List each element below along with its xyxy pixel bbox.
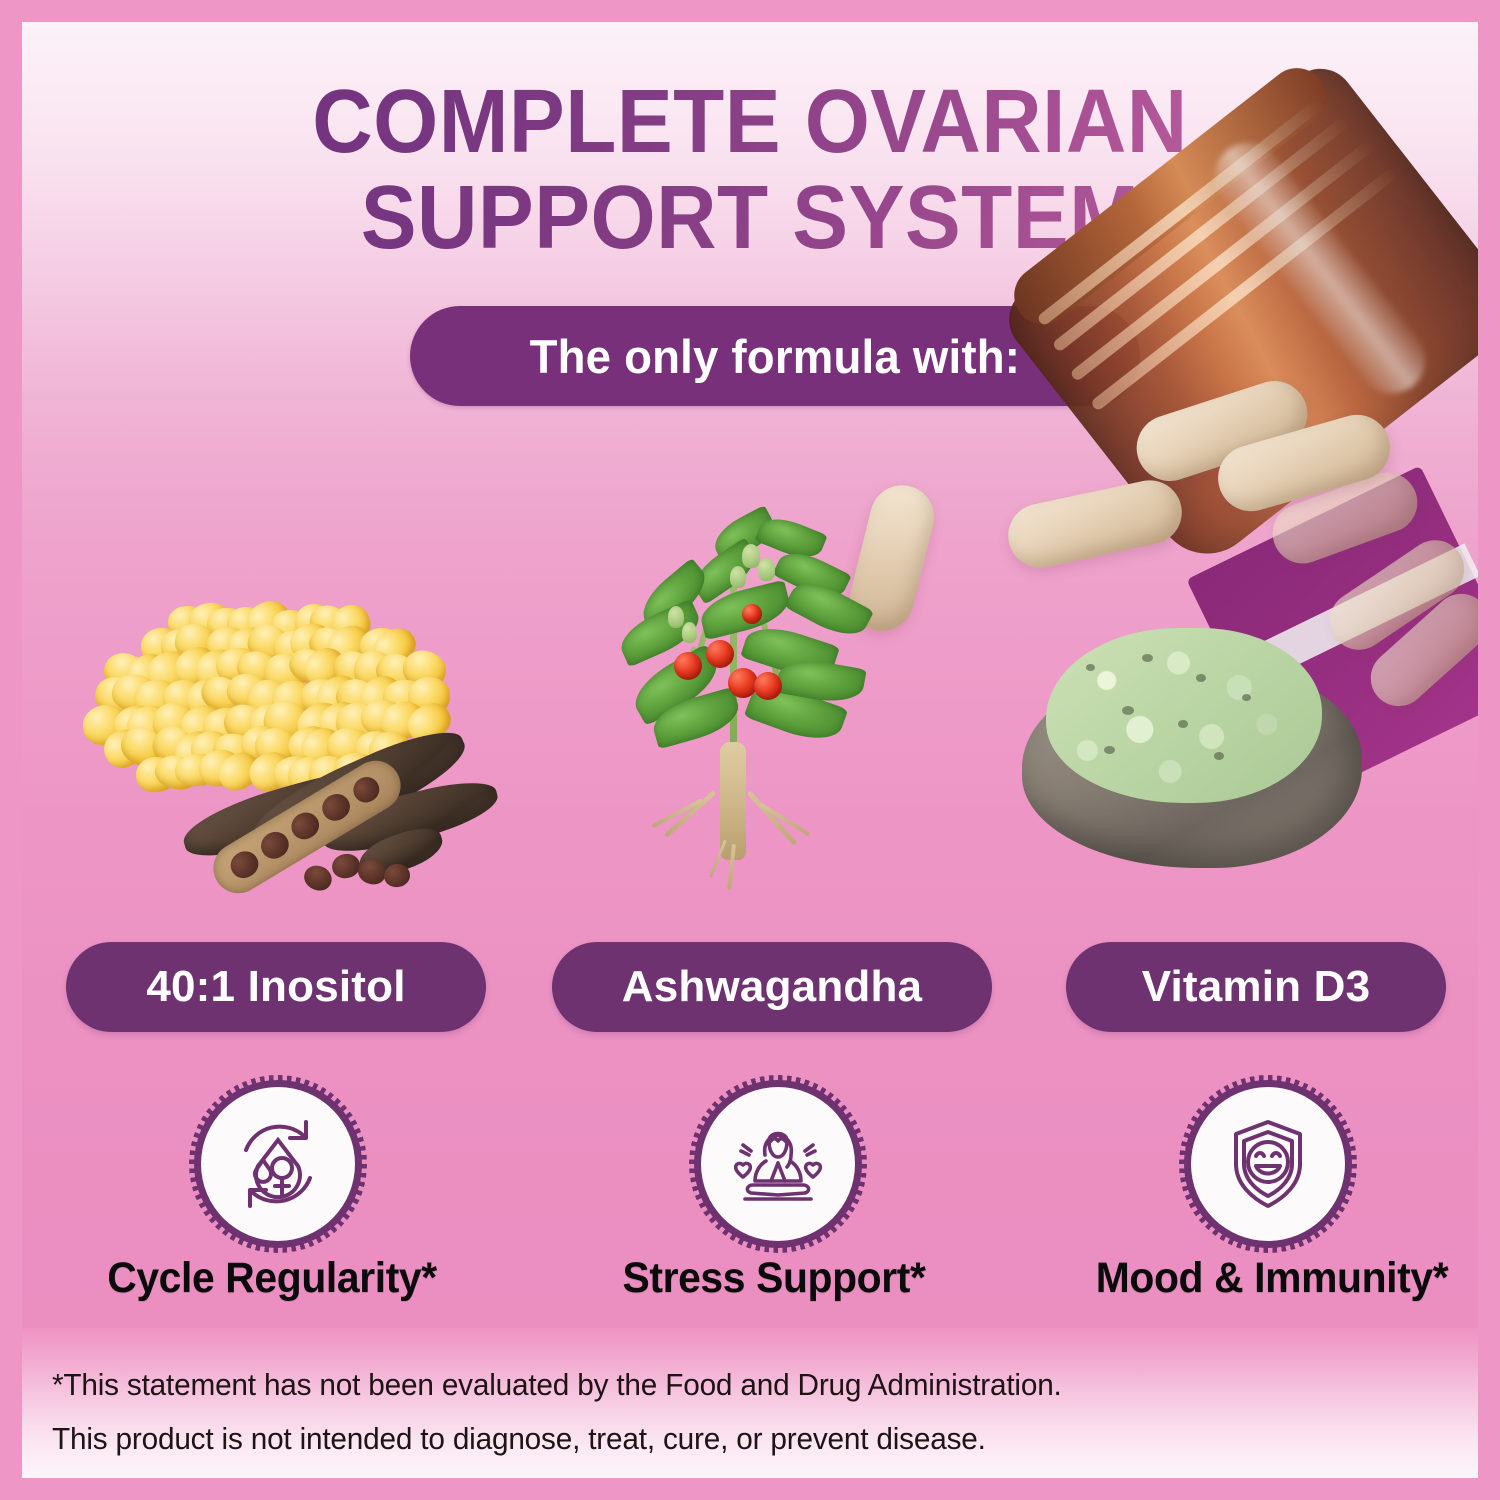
ingredient-pill-label: Ashwagandha xyxy=(622,962,922,1012)
carob-seed-icon xyxy=(330,851,362,880)
benefit-label-stress-support: Stress Support* xyxy=(535,1254,1014,1303)
benefit-badge-cycle-regularity xyxy=(194,1080,362,1248)
ingredient-pill-inositol: 40:1 Inositol xyxy=(66,942,486,1032)
ingredient-image-inositol: {} xyxy=(62,582,482,922)
berry-icon xyxy=(742,604,762,624)
ingredient-pill-ashwagandha: Ashwagandha xyxy=(552,942,992,1032)
benefit-badge-stress-support xyxy=(694,1080,862,1248)
benefit-badge-mood-immunity xyxy=(1184,1080,1352,1248)
berry-icon xyxy=(674,652,702,680)
berry-icon xyxy=(754,672,782,700)
disclaimer-line-2: This product is not intended to diagnose… xyxy=(52,1412,1421,1466)
flower-bud-icon xyxy=(682,622,697,643)
carob-seed-icon xyxy=(300,861,335,894)
lichen-icon xyxy=(1046,628,1322,803)
disclaimer-line-1: *This statement has not been evaluated b… xyxy=(52,1358,1421,1412)
ingredient-pill-label: 40:1 Inositol xyxy=(146,962,405,1012)
ingredient-image-vitamin-d3 xyxy=(1022,620,1362,870)
meditating-woman-hearts-icon xyxy=(725,1111,831,1217)
disclaimer-footer: *This statement has not been evaluated b… xyxy=(22,1328,1478,1478)
ingredient-pill-label: Vitamin D3 xyxy=(1142,962,1371,1012)
subtitle-pill-label: The only formula with: xyxy=(530,329,1021,384)
flower-bud-icon xyxy=(730,566,746,588)
shield-smiley-face-icon xyxy=(1216,1112,1320,1216)
ingredient-pill-vitamin-d3: Vitamin D3 xyxy=(1066,942,1446,1032)
berry-icon xyxy=(706,640,734,668)
image-border-frame: COMPLETE OVARIAN SUPPORT SYSTEM The only… xyxy=(0,0,1500,1500)
flower-bud-icon xyxy=(668,606,684,628)
flower-bud-icon xyxy=(758,558,775,581)
benefit-label-mood-immunity: Mood & Immunity* xyxy=(1035,1254,1479,1303)
cycle-droplet-female-icon xyxy=(226,1112,330,1216)
flower-bud-icon xyxy=(742,544,760,568)
benefit-label-cycle-regularity: Cycle Regularity* xyxy=(35,1254,510,1303)
infographic-stage: COMPLETE OVARIAN SUPPORT SYSTEM The only… xyxy=(22,22,1478,1478)
ingredient-image-ashwagandha xyxy=(582,492,912,922)
